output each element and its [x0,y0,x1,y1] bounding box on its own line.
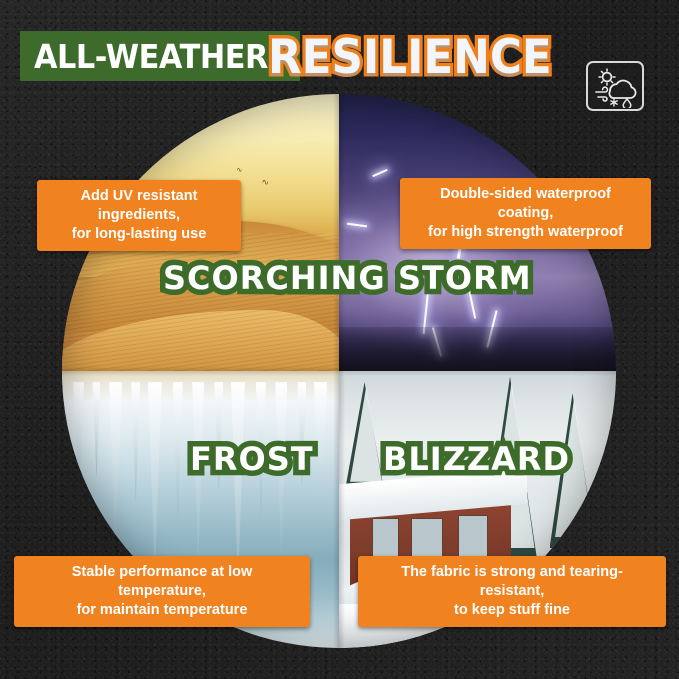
title-plate-label: ALL-WEATHER [34,37,268,76]
callout-scorching-line2: for long-lasting use [49,225,229,244]
callout-frost-line2: for maintain temperature [26,601,298,620]
callout-blizzard: The fabric is strong and tearing-resista… [358,556,666,627]
callout-frost-line1: Stable performance at low temperature, [26,563,298,601]
callout-storm-line2: for high strength waterproof [412,223,639,242]
header-banner: ALL-WEATHER RESILIENCE [0,27,679,89]
label-scorching: SCORCHING [163,262,386,294]
callout-blizzard-line2: to keep stuff fine [370,601,654,620]
callout-scorching: Add UV resistant ingredients, for long-l… [37,180,241,251]
label-blizzard: BLIZZARD [383,443,570,475]
callout-storm-line1: Double-sided waterproof coating, [412,185,639,223]
callout-frost: Stable performance at low temperature, f… [14,556,310,627]
title-plate: ALL-WEATHER [20,31,300,81]
callout-storm: Double-sided waterproof coating, for hig… [400,178,651,249]
callout-blizzard-line1: The fabric is strong and tearing-resista… [370,563,654,601]
hero-title: RESILIENCE [268,27,552,89]
all-weather-resilience-poster: ALL-WEATHER RESILIENCE [0,0,679,679]
label-storm: STORM [398,262,532,294]
callout-scorching-line1: Add UV resistant ingredients, [49,187,229,225]
label-frost: FROST [190,443,314,475]
